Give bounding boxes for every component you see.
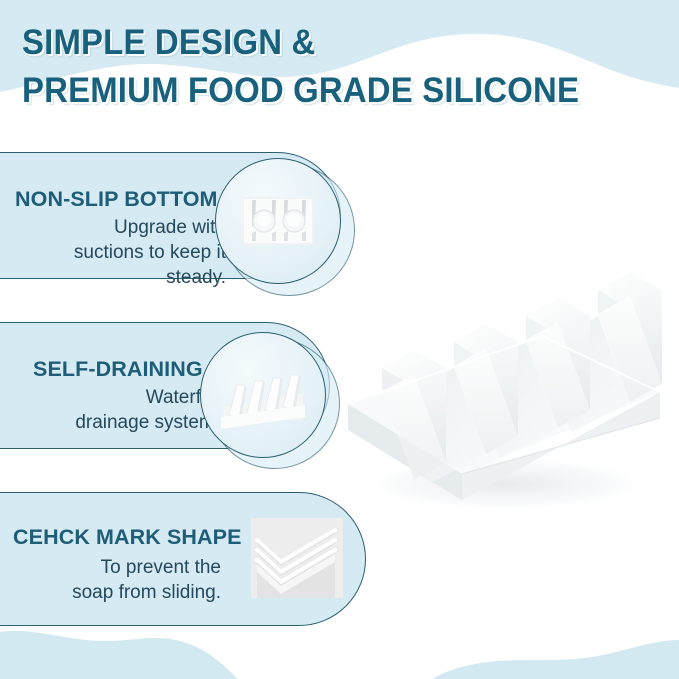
- feature-heading: CEHCK MARK SHAPE: [13, 525, 242, 550]
- soap-dish-drainage-ridges-photo: [200, 332, 326, 458]
- white-silicone-soap-dish-4-ridges-photo: [330, 232, 679, 517]
- page-title-line-2: PREMIUM FOOD GRADE SILICONE: [22, 70, 624, 112]
- feature-badge-non-slip-bottom: [215, 158, 355, 298]
- page-title: SIMPLE DESIGN & PREMIUM FOOD GRADE SILIC…: [22, 22, 662, 112]
- feature-badge-cehck-mark-shape: [251, 518, 343, 598]
- feature-description: Upgrade with suctions to keep it steady.: [11, 215, 226, 290]
- soap-dish-underside-suction-cups-photo: [215, 158, 341, 284]
- drainage-ridges-illustration: [213, 345, 313, 445]
- feature-heading: NON-SLIP BOTTOM: [15, 187, 218, 212]
- page-title-line-1: SIMPLE DESIGN &: [22, 22, 624, 64]
- infographic-canvas: SIMPLE DESIGN & PREMIUM FOOD GRADE SILIC…: [0, 0, 679, 679]
- feature-description: To prevent the soap from sliding.: [9, 555, 221, 605]
- feature-badge-self-draining: [200, 332, 340, 472]
- soap-dish-v-profile-photo: [251, 518, 343, 598]
- suction-cups-illustration: [228, 171, 328, 271]
- feature-heading: SELF-DRAINING: [33, 357, 203, 382]
- product-image: [330, 232, 679, 517]
- feature-description: Waterfall drainage system.: [27, 385, 220, 435]
